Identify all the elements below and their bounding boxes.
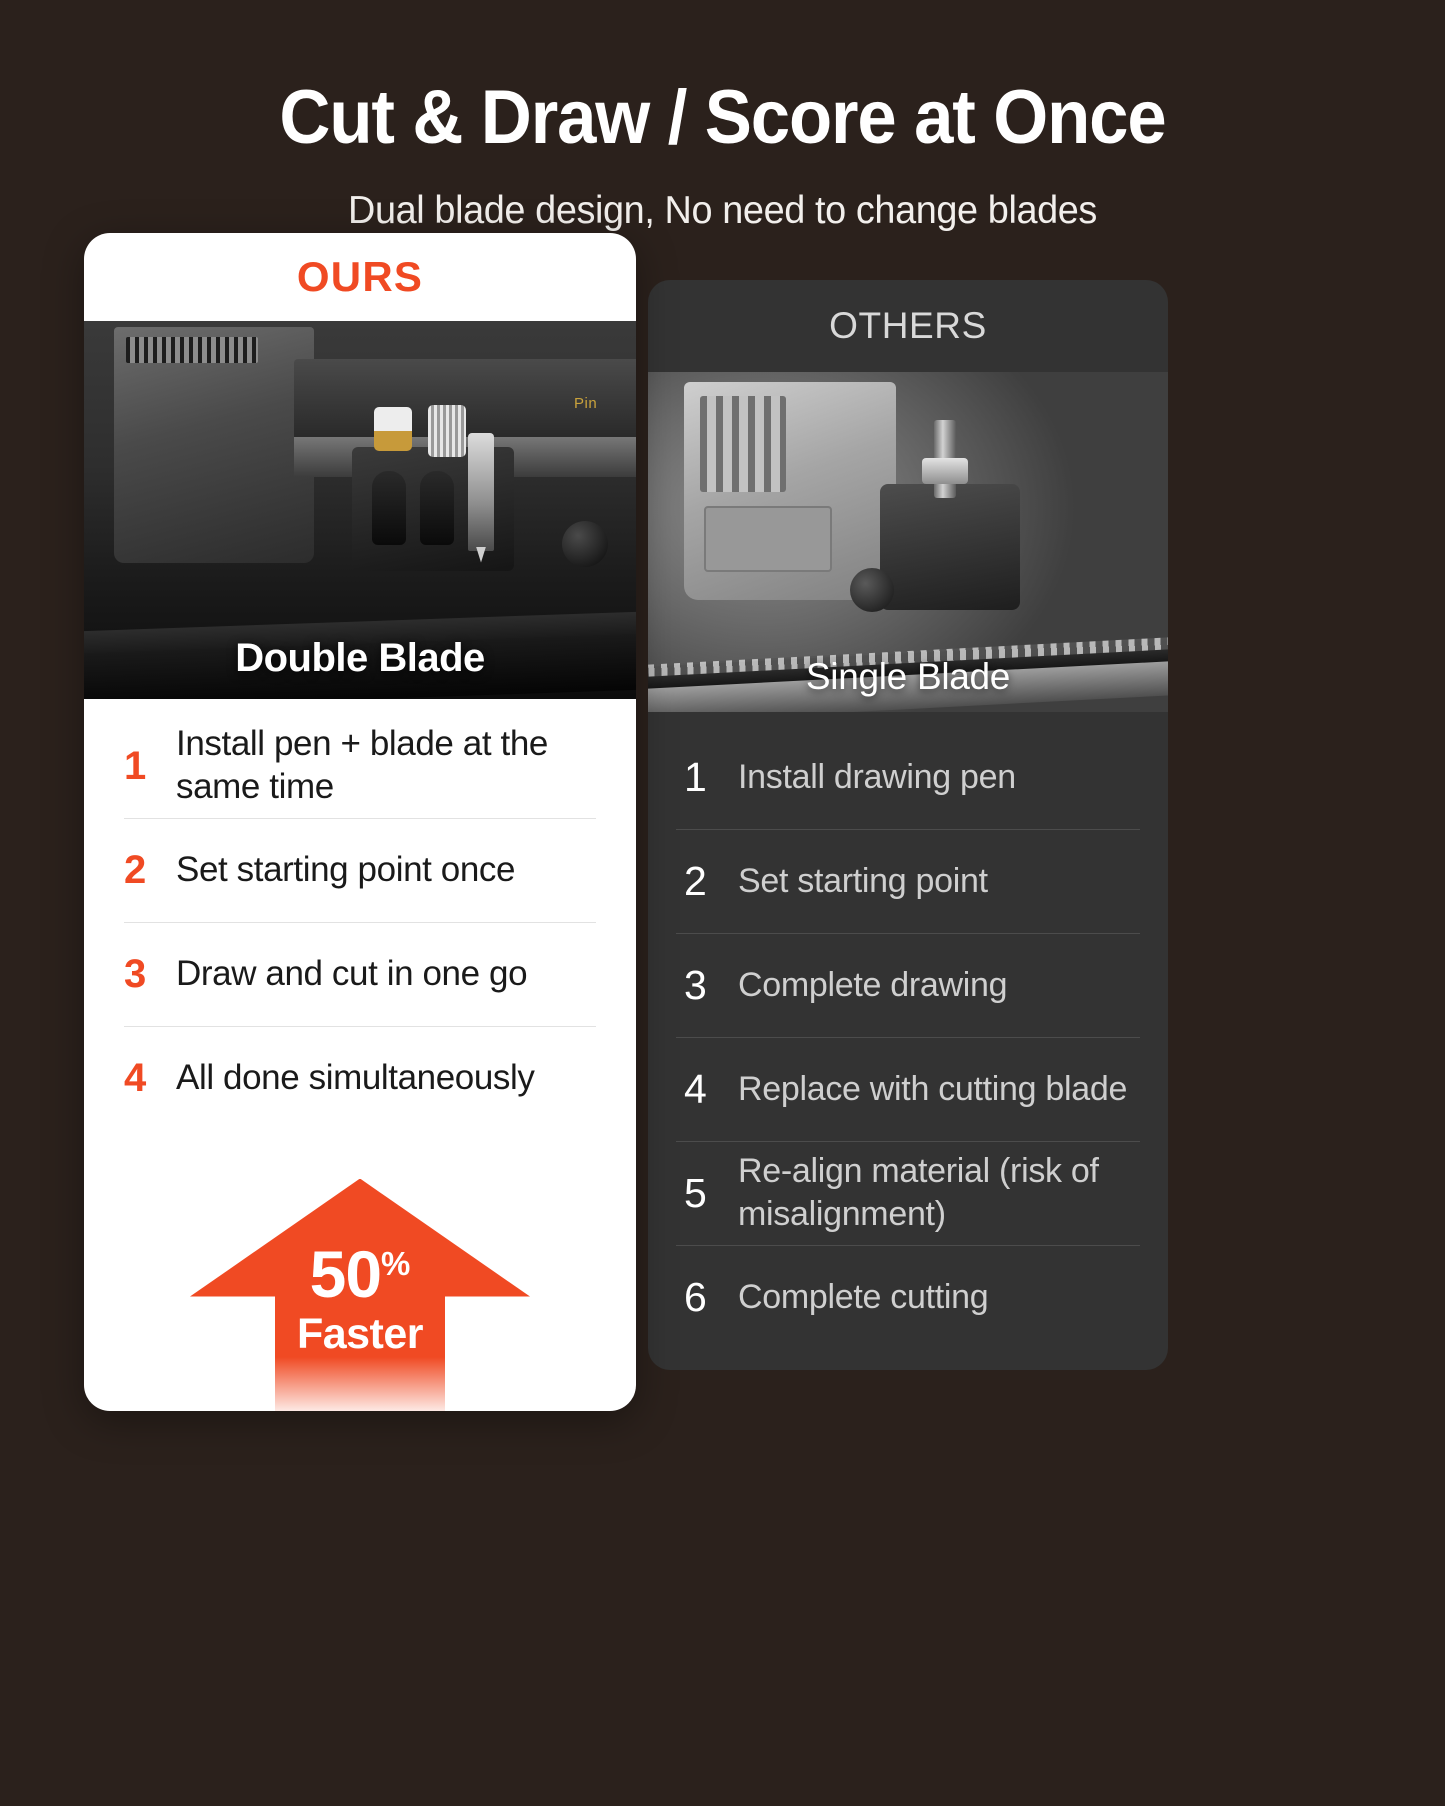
step-number: 1 xyxy=(676,754,738,801)
list-item: 1 Install drawing pen xyxy=(676,726,1140,830)
blade-holder-shape xyxy=(420,471,454,545)
cutting-head-shape xyxy=(880,484,1020,610)
ours-product-photo: Pin Double Blade xyxy=(84,321,636,699)
list-item: 2 Set starting point once xyxy=(124,819,596,923)
comparison-stage: OTHERS Single Blade 1 Install drawing pe… xyxy=(0,233,1445,1713)
others-product-photo: Single Blade xyxy=(648,372,1168,712)
up-arrow-icon: 50% Faster xyxy=(190,1179,530,1411)
list-item: 3 Draw and cut in one go xyxy=(124,923,596,1027)
step-text: All done simultaneously xyxy=(176,1057,535,1100)
list-item: 1 Install pen + blade at the same time xyxy=(124,715,596,819)
step-text: Set starting point once xyxy=(176,849,515,892)
list-item: 4 Replace with cutting blade xyxy=(676,1038,1140,1142)
others-card: OTHERS Single Blade 1 Install drawing pe… xyxy=(648,280,1168,1370)
header: Cut & Draw / Score at Once Dual blade de… xyxy=(0,0,1445,233)
vent-grille-shape xyxy=(126,337,258,363)
step-text: Set starting point xyxy=(738,860,988,903)
step-number: 3 xyxy=(676,962,738,1009)
pin-label: Pin xyxy=(574,395,597,412)
knob-shape xyxy=(922,458,968,484)
step-number: 4 xyxy=(676,1066,738,1113)
step-number: 5 xyxy=(676,1170,738,1217)
step-text: Complete drawing xyxy=(738,964,1007,1007)
step-number: 2 xyxy=(124,848,176,893)
others-steps-list: 1 Install drawing pen 2 Set starting poi… xyxy=(648,712,1168,1360)
list-item: 3 Complete drawing xyxy=(676,934,1140,1038)
silver-knob-shape xyxy=(428,405,466,457)
step-text: Re-align material (risk of misalignment) xyxy=(738,1150,1140,1236)
step-number: 4 xyxy=(124,1056,176,1101)
roller-shape xyxy=(850,568,894,612)
step-number: 3 xyxy=(124,952,176,997)
ours-photo-caption: Double Blade xyxy=(84,636,636,681)
speed-badge-text: 50% Faster xyxy=(190,1241,530,1356)
step-text: Install drawing pen xyxy=(738,756,1016,799)
step-text: Install pen + blade at the same time xyxy=(176,723,596,808)
page-title: Cut & Draw / Score at Once xyxy=(51,78,1395,159)
step-number: 6 xyxy=(676,1274,738,1321)
page-subtitle: Dual blade design, No need to change bla… xyxy=(22,189,1424,233)
roller-shape xyxy=(562,521,608,567)
pen-holder-shape xyxy=(372,471,406,545)
panel-shape xyxy=(704,506,832,572)
step-text: Draw and cut in one go xyxy=(176,953,527,996)
badge-value: 50 xyxy=(310,1237,381,1311)
list-item: 2 Set starting point xyxy=(676,830,1140,934)
speed-badge-wrap: 50% Faster xyxy=(84,1131,636,1411)
step-text: Complete cutting xyxy=(738,1276,988,1319)
list-item: 6 Complete cutting xyxy=(676,1246,1140,1350)
list-item: 5 Re-align material (risk of misalignmen… xyxy=(676,1142,1140,1246)
badge-label: Faster xyxy=(190,1313,530,1356)
step-number: 1 xyxy=(124,744,176,789)
step-number: 2 xyxy=(676,858,738,905)
others-photo-caption: Single Blade xyxy=(648,656,1168,698)
badge-unit: % xyxy=(381,1245,410,1282)
blade-assembly-shape xyxy=(468,433,494,551)
ours-card: OURS Pin Double Blade xyxy=(84,233,636,1411)
others-card-label: OTHERS xyxy=(648,280,1168,372)
gold-knob-shape xyxy=(374,407,412,451)
ours-steps-list: 1 Install pen + blade at the same time 2… xyxy=(84,699,636,1131)
list-item: 4 All done simultaneously xyxy=(124,1027,596,1131)
ours-card-label: OURS xyxy=(84,233,636,321)
vent-grille-shape xyxy=(700,396,786,492)
step-text: Replace with cutting blade xyxy=(738,1068,1127,1111)
infographic-page: Cut & Draw / Score at Once Dual blade de… xyxy=(0,0,1445,1806)
